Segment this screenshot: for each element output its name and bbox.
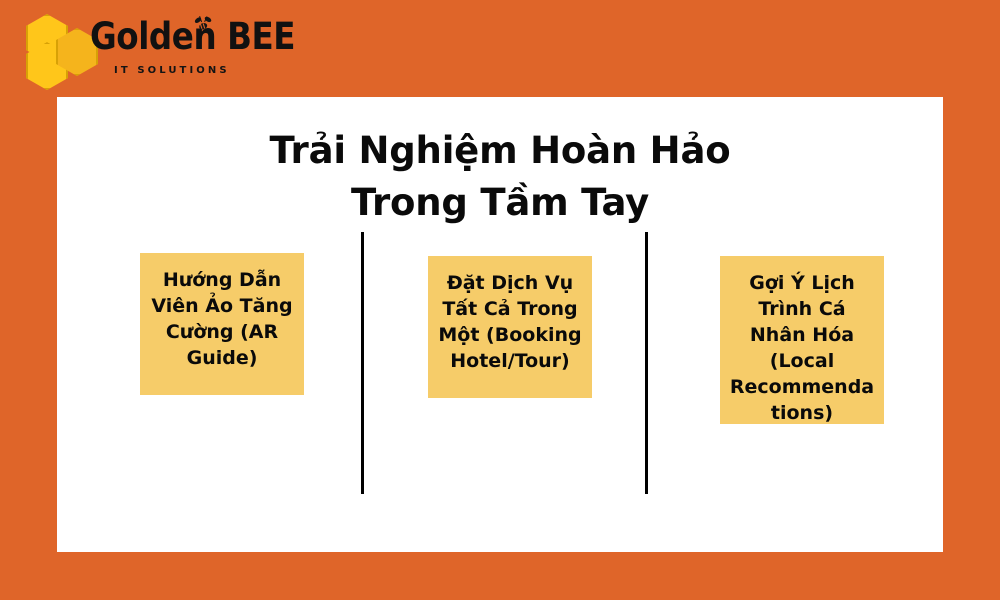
bee-icon <box>190 14 216 32</box>
column-divider-1 <box>361 232 364 494</box>
content-card: Trải Nghiệm Hoàn Hảo Trong Tầm Tay Hướng… <box>57 97 943 552</box>
brand-logo: Golden BEE IT SOLUTIONS <box>14 8 244 90</box>
feature-card-ar-guide[interactable]: Hướng Dẫn Viên Ảo Tăng Cường (AR Guide) <box>140 253 304 395</box>
logo-tagline: IT SOLUTIONS <box>114 65 230 76</box>
feature-card-booking[interactable]: Đặt Dịch Vụ Tất Cả Trong Một (Booking Ho… <box>428 256 592 398</box>
column-divider-2 <box>645 232 648 494</box>
feature-card-recommendations[interactable]: Gợi Ý Lịch Trình Cá Nhân Hóa (Local Reco… <box>720 256 884 424</box>
slide-canvas: Golden BEE IT SOLUTIONS Trải Nghiệm Hoàn… <box>0 0 1000 600</box>
feature-columns: Hướng Dẫn Viên Ảo Tăng Cường (AR Guide) … <box>57 97 943 552</box>
